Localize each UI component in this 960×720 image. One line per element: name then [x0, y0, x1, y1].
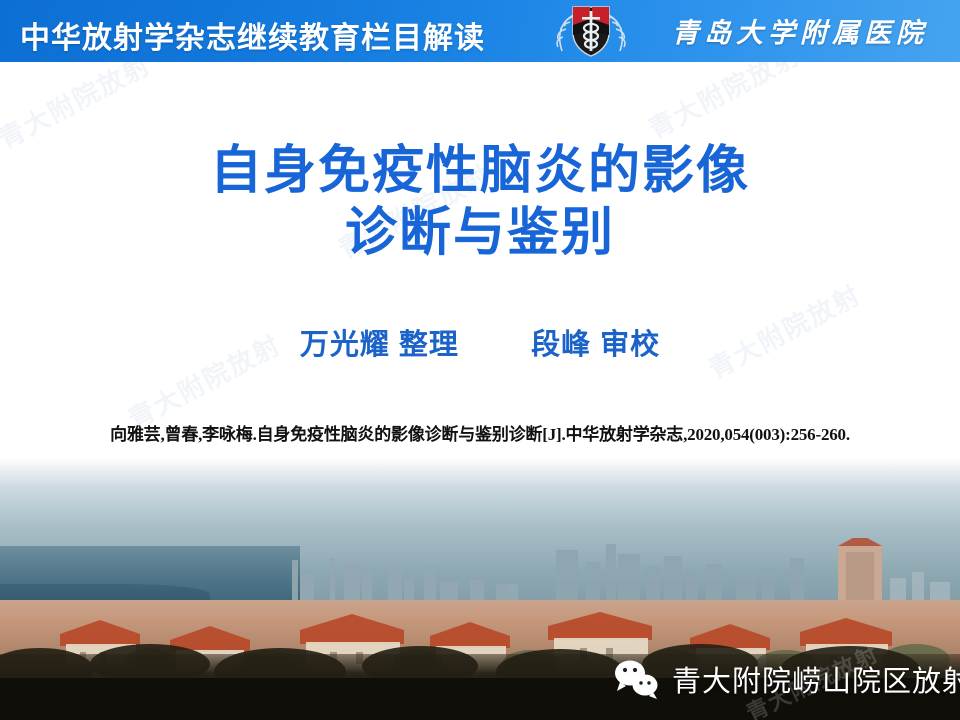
author-compiler: 万光耀 整理: [300, 329, 459, 361]
author-line: 万光耀 整理 段峰 审校: [0, 321, 960, 363]
author-reviewer: 段峰 审校: [531, 329, 660, 361]
slide-body: 青大附院放射 青大附院放射 青大附院放射 青大附院放射 青大附院放射 自身免疫性…: [0, 62, 960, 458]
wechat-account-name: 青大附院崂山院区放射科: [672, 658, 960, 700]
slide-header-bar: 中华放射学杂志继续教育栏目解读: [0, 0, 960, 64]
watermark-text: 青大附院放射: [641, 62, 807, 146]
banner-title: 中华放射学杂志继续教育栏目解读: [20, 13, 485, 57]
title-line-2: 诊断与鉴别: [0, 202, 960, 264]
hospital-name: 青岛大学附属医院: [672, 11, 928, 50]
wechat-account-row[interactable]: 青大附院崂山院区放射科: [612, 655, 960, 703]
wechat-logo-icon: [612, 658, 662, 700]
citation-reference: 向雅芸,曾春,李咏梅.自身免疫性脑炎的影像诊断与鉴别诊断[J].中华放射学杂志,…: [0, 420, 960, 445]
hospital-shield-caduceus-icon: [548, 1, 634, 61]
landmark-tower: [838, 538, 882, 608]
page-title: 自身免疫性脑炎的影像 诊断与鉴别: [0, 140, 960, 264]
presentation-slide: 中华放射学杂志继续教育栏目解读: [0, 0, 960, 720]
title-line-1: 自身免疫性脑炎的影像: [210, 142, 750, 200]
